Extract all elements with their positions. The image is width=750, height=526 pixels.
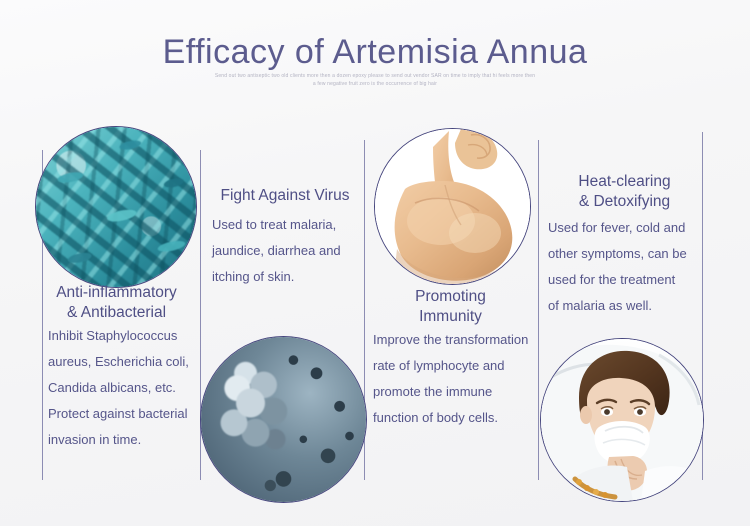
bicep-arm-image-fill <box>375 129 530 284</box>
panel-title-heat-clearing: Heat-clearing & Detoxifying <box>542 172 707 212</box>
panel-body-promoting-immunity: Improve the transformation rate of lymph… <box>373 327 545 431</box>
virus-photo <box>200 336 367 503</box>
bacteria-image-fill <box>36 127 196 287</box>
panel-title-promoting-immunity: Promoting Immunity <box>368 287 533 327</box>
panel-body-fight-against-virus: Used to treat malaria, jaundice, diarrhe… <box>212 212 372 290</box>
subtitle-line-2: a few negative fruit zero is the occurre… <box>0 80 750 88</box>
panel-body-heat-clearing: Used for fever, cold and other symptoms,… <box>548 215 713 319</box>
sick-child-photo <box>540 338 704 502</box>
panel-title-anti-inflammatory: Anti-inflammatory & Antibacterial <box>34 283 199 323</box>
sick-child-image-fill <box>541 339 703 501</box>
bicep-arm-photo <box>374 128 531 285</box>
infographic-canvas: Efficacy of Artemisia Annua Send out two… <box>0 0 750 526</box>
page-title: Efficacy of Artemisia Annua <box>0 33 750 72</box>
panel-body-anti-inflammatory: Inhibit Staphylococcus aureus, Escherich… <box>48 323 208 453</box>
panel-title-fight-against-virus: Fight Against Virus <box>205 186 365 206</box>
bacteria-photo <box>35 126 197 288</box>
virus-image-fill <box>201 337 366 502</box>
subtitle-line-1: Send out two antiseptic two old clients … <box>0 72 750 80</box>
page-subtitle: Send out two antiseptic two old clients … <box>0 72 750 88</box>
